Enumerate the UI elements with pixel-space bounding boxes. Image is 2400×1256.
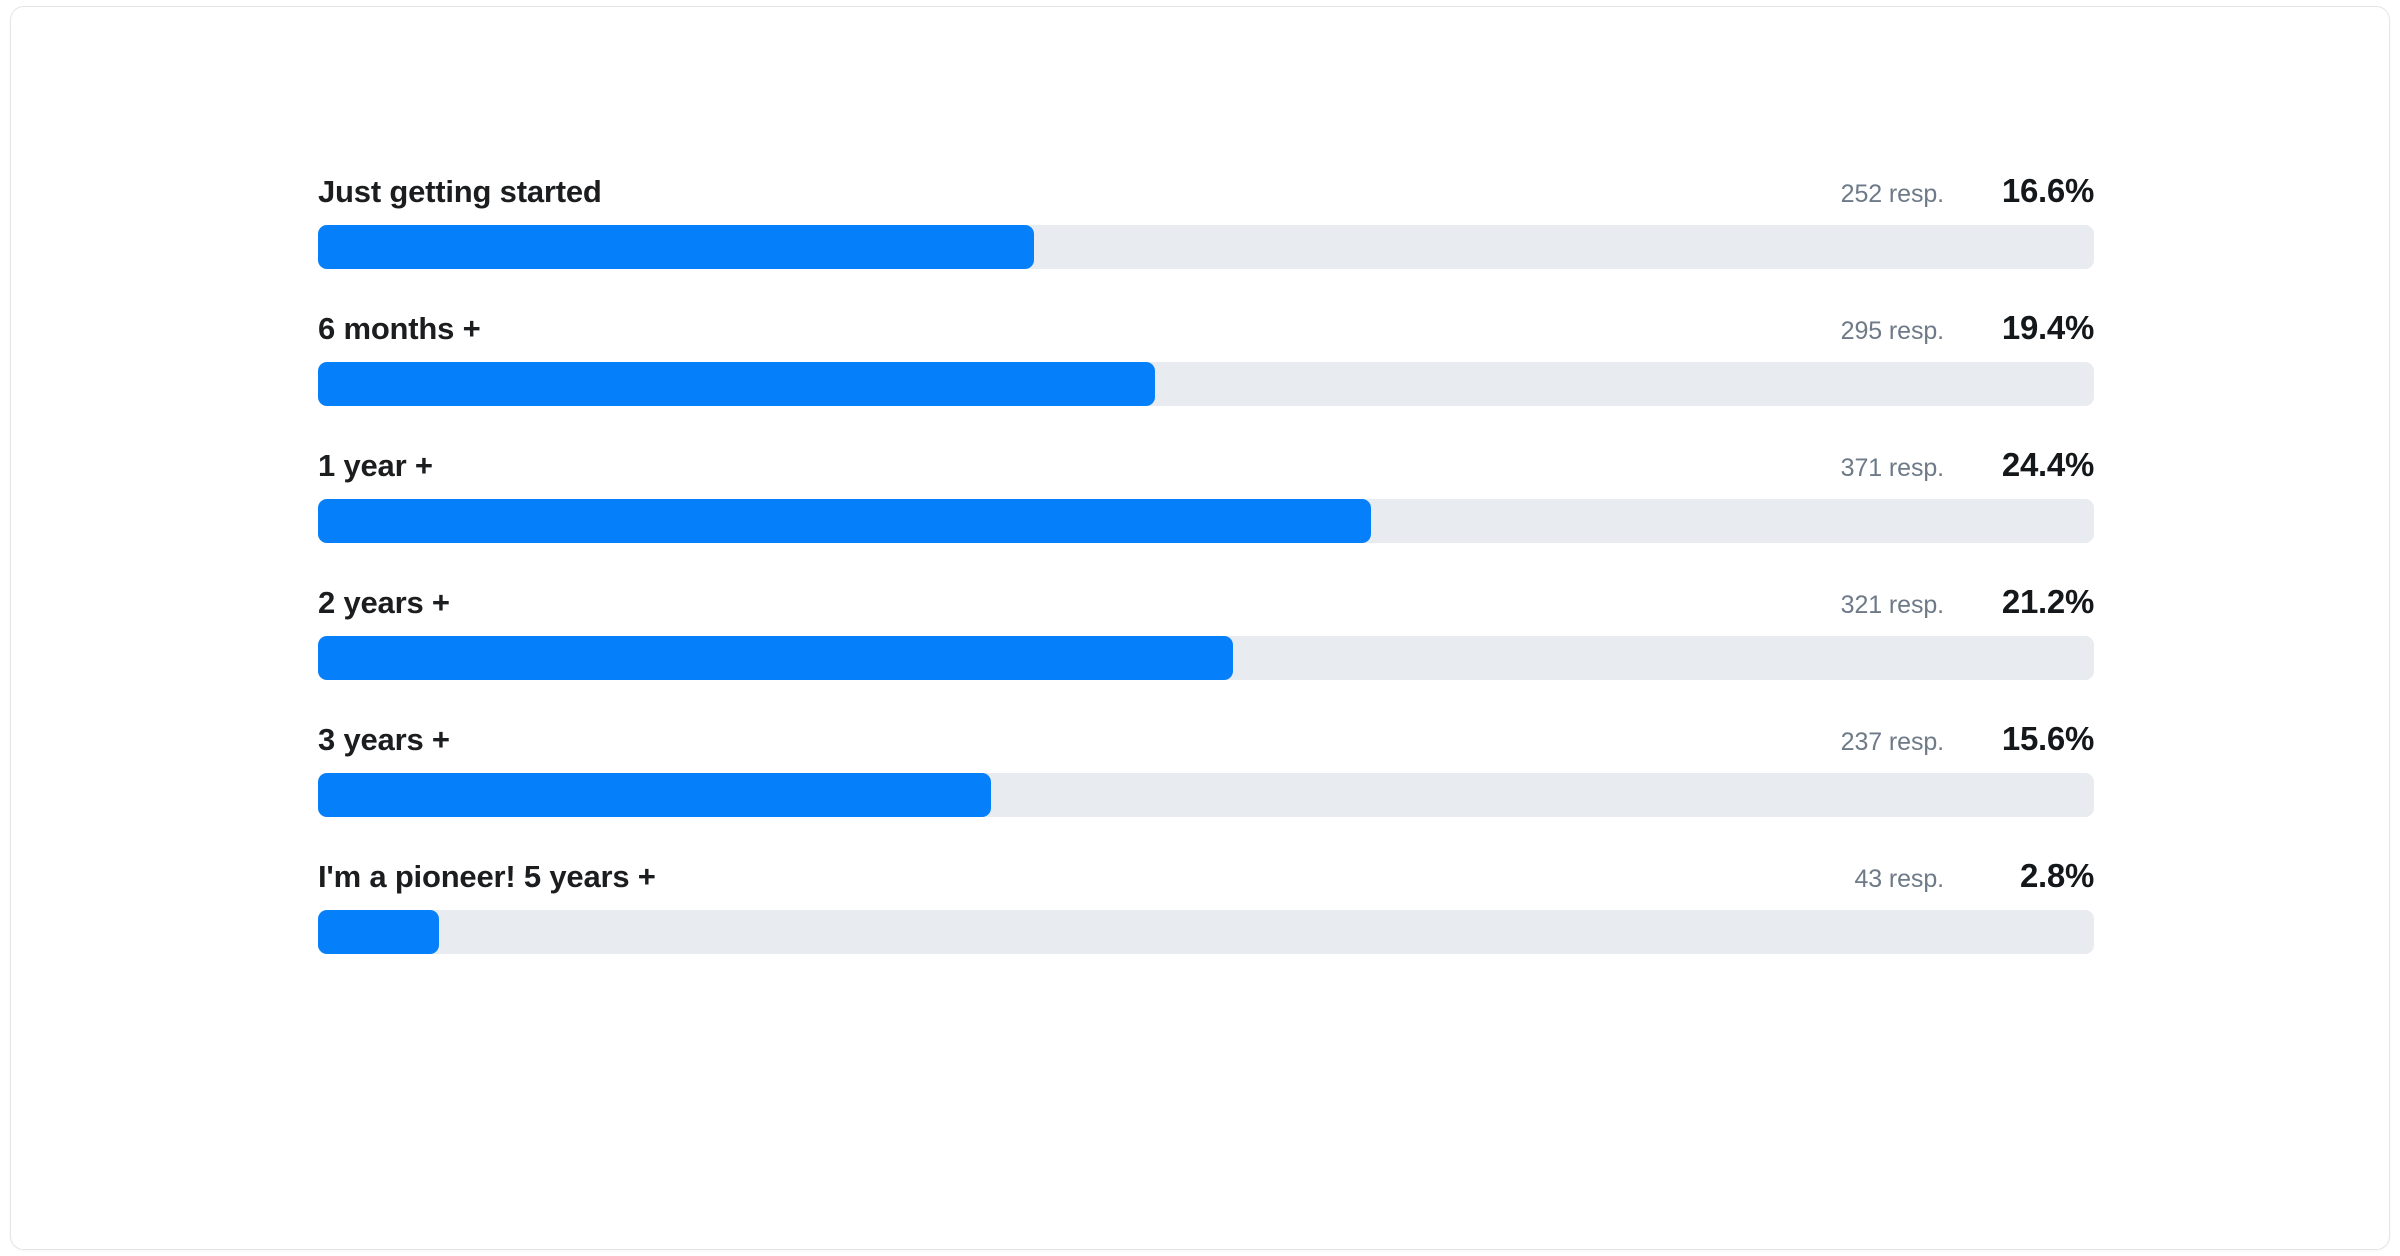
result-row-metrics: 237 resp. 15.6% <box>1841 720 2094 758</box>
result-row-metrics: 295 resp. 19.4% <box>1841 309 2094 347</box>
result-row-response-count: 237 resp. <box>1841 728 1944 757</box>
result-row-percentage: 2.8% <box>1972 857 2094 895</box>
result-row-percentage: 16.6% <box>1972 172 2094 210</box>
result-row-bar-fill <box>318 773 991 817</box>
result-row-bar-track <box>318 225 2094 269</box>
result-row-bar-track <box>318 499 2094 543</box>
result-row: 3 years + 237 resp. 15.6% <box>318 720 2094 817</box>
result-row-metrics: 371 resp. 24.4% <box>1841 446 2094 484</box>
result-row-bar-fill <box>318 910 439 954</box>
result-row-header: 2 years + 321 resp. 21.2% <box>318 583 2094 621</box>
result-row-label: 6 months + <box>318 311 481 347</box>
result-row-response-count: 295 resp. <box>1841 317 1944 346</box>
result-row-bar-track <box>318 636 2094 680</box>
result-row-percentage: 24.4% <box>1972 446 2094 484</box>
result-row-header: 6 months + 295 resp. 19.4% <box>318 309 2094 347</box>
result-row-percentage: 19.4% <box>1972 309 2094 347</box>
result-row-header: 3 years + 237 resp. 15.6% <box>318 720 2094 758</box>
result-row-response-count: 321 resp. <box>1841 591 1944 620</box>
result-row-response-count: 43 resp. <box>1854 865 1944 894</box>
result-row-bar-track <box>318 362 2094 406</box>
result-row-bar-fill <box>318 499 1371 543</box>
result-row-header: I'm a pioneer! 5 years + 43 resp. 2.8% <box>318 857 2094 895</box>
result-row-response-count: 371 resp. <box>1841 454 1944 483</box>
result-row-percentage: 15.6% <box>1972 720 2094 758</box>
result-row-bar-fill <box>318 362 1155 406</box>
result-row-metrics: 321 resp. 21.2% <box>1841 583 2094 621</box>
result-row-metrics: 43 resp. 2.8% <box>1854 857 2094 895</box>
result-row-header: Just getting started 252 resp. 16.6% <box>318 172 2094 210</box>
result-row: 2 years + 321 resp. 21.2% <box>318 583 2094 680</box>
result-row: 6 months + 295 resp. 19.4% <box>318 309 2094 406</box>
result-row-label: 3 years + <box>318 722 450 758</box>
result-row-bar-track <box>318 773 2094 817</box>
result-row-label: 2 years + <box>318 585 450 621</box>
result-row-metrics: 252 resp. 16.6% <box>1841 172 2094 210</box>
result-row-bar-track <box>318 910 2094 954</box>
result-row: 1 year + 371 resp. 24.4% <box>318 446 2094 543</box>
result-row-header: 1 year + 371 resp. 24.4% <box>318 446 2094 484</box>
result-row-label: I'm a pioneer! 5 years + <box>318 859 656 895</box>
result-row-response-count: 252 resp. <box>1841 180 1944 209</box>
result-row: I'm a pioneer! 5 years + 43 resp. 2.8% <box>318 857 2094 954</box>
result-row-label: 1 year + <box>318 448 433 484</box>
results-card: Just getting started 252 resp. 16.6% 6 m… <box>10 6 2390 1250</box>
result-row-percentage: 21.2% <box>1972 583 2094 621</box>
survey-results-bar-chart: Just getting started 252 resp. 16.6% 6 m… <box>318 172 2094 954</box>
result-row-bar-fill <box>318 225 1034 269</box>
result-row: Just getting started 252 resp. 16.6% <box>318 172 2094 269</box>
result-row-bar-fill <box>318 636 1233 680</box>
result-row-label: Just getting started <box>318 174 602 210</box>
